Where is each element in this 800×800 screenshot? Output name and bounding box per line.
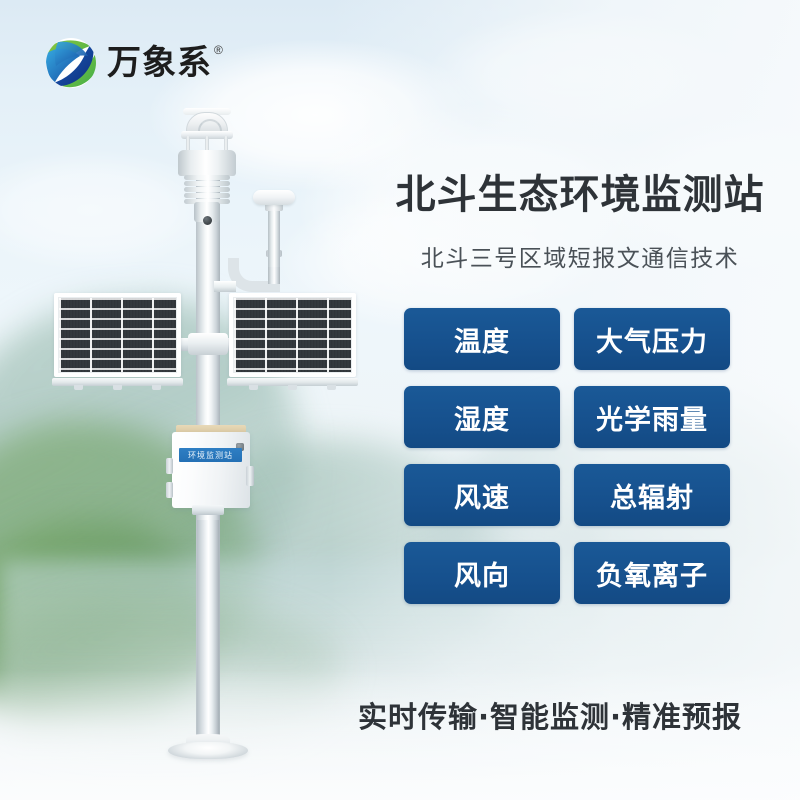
brand-name: 万象系 — [107, 46, 212, 80]
solar-panel-foot — [249, 385, 258, 390]
globe-swirl-logo-icon — [44, 36, 98, 90]
weather-station-device: 环境监测站 — [0, 0, 420, 800]
rain-gauge-arm-icon — [214, 281, 236, 292]
enclosure-pole-clamp-icon — [192, 505, 224, 515]
enclosure-hinge-icon — [166, 482, 173, 498]
solar-panel-foot — [74, 385, 83, 390]
feature-chip-temperature[interactable]: 温度 — [404, 308, 560, 370]
solar-panel-foot — [113, 385, 122, 390]
registered-trademark-icon: ® — [214, 44, 223, 56]
product-poster: 环境监测站 — [0, 0, 800, 800]
solar-panel-icon — [54, 293, 181, 377]
feature-chip-wind-direction[interactable]: 风向 — [404, 542, 560, 604]
feature-chip-optical-rainfall[interactable]: 光学雨量 — [574, 386, 730, 448]
footer-tagline: 实时传输·智能监测·精准预报 — [340, 694, 760, 736]
optical-rain-gauge-icon — [253, 190, 295, 205]
feature-chip-wind-speed[interactable]: 风速 — [404, 464, 560, 526]
solar-panel-foot — [327, 385, 336, 390]
page-subtitle: 北斗三号区域短报文通信技术 — [390, 245, 770, 273]
enclosure-hinge-icon — [166, 458, 173, 474]
feature-chip-air-pressure[interactable]: 大气压力 — [574, 308, 730, 370]
brand-wordmark: 万象系 ® — [107, 46, 223, 80]
page-title: 北斗生态环境监测站 — [390, 172, 770, 218]
sensor-body-icon — [178, 150, 236, 176]
rain-gauge-stem-icon — [268, 209, 280, 267]
solar-cell-grid — [58, 297, 177, 373]
feature-list: 温度 大气压力 湿度 光学雨量 风速 总辐射 风向 负氧离子 — [404, 308, 744, 604]
feature-chip-total-radiation[interactable]: 总辐射 — [574, 464, 730, 526]
enclosure-nameplate: 环境监测站 — [179, 448, 242, 462]
mast-pole-lower-icon — [197, 520, 219, 750]
solar-panel-mount-hub-icon — [188, 333, 228, 355]
solar-panel-icon — [229, 293, 356, 377]
solar-panel-foot — [288, 385, 297, 390]
feature-chip-humidity[interactable]: 湿度 — [404, 386, 560, 448]
solar-panel-foot — [152, 385, 161, 390]
base-plate-icon — [168, 742, 248, 759]
solar-cell-grid — [233, 297, 352, 373]
enclosure-latch-icon — [246, 466, 254, 486]
radiation-shield-icon — [184, 175, 230, 205]
brand-logo[interactable]: 万象系 ® — [44, 36, 223, 90]
cable-port-icon — [203, 216, 212, 225]
feature-chip-negative-oxygen-ion[interactable]: 负氧离子 — [574, 542, 730, 604]
